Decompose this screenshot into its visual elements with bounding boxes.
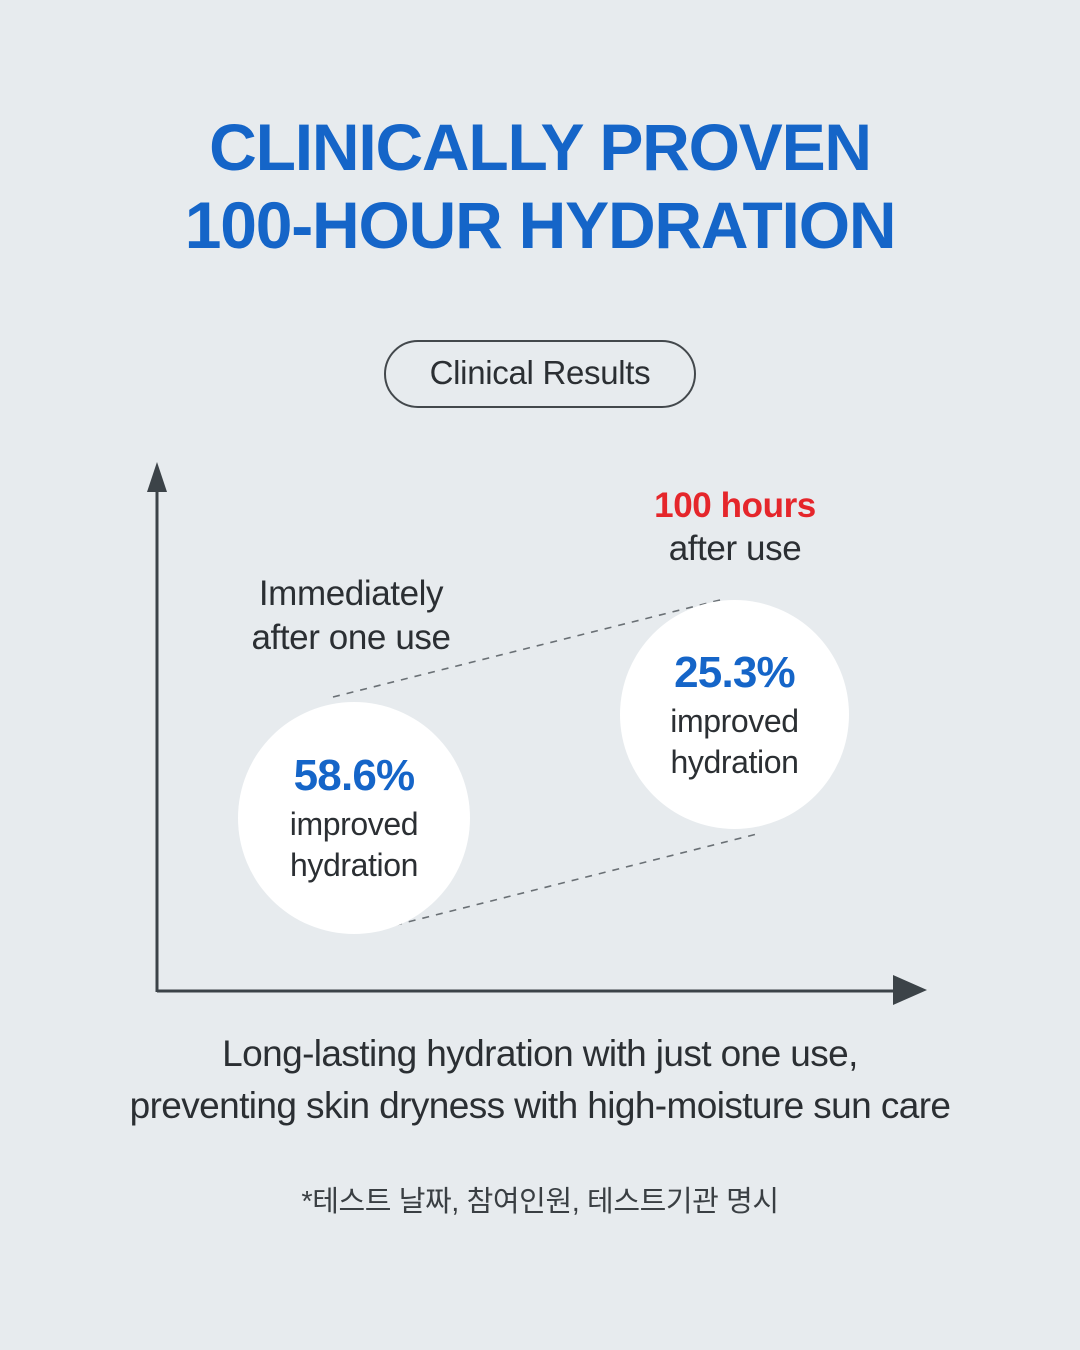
result-value-100-hours: 25.3% (674, 647, 795, 699)
chart-caption-line-1: Long-lasting hydration with just one use… (0, 1028, 1080, 1080)
result-caption-100-hours-line-2: hydration (670, 742, 798, 783)
badge-container: Clinical Results (0, 340, 1080, 408)
chart-label-100-hours: 100 hours after use (575, 484, 895, 570)
chart-label-immediately: Immediately after one use (186, 572, 516, 660)
result-bubble-immediately: 58.6% improved hydration (238, 702, 470, 934)
y-axis-arrowhead-icon (147, 462, 167, 492)
promo-page: CLINICALLY PROVEN 100-HOUR HYDRATION Cli… (0, 0, 1080, 1350)
chart-label-100-hours-subtitle: after use (575, 527, 895, 570)
chart-axes-and-connectors (0, 440, 1080, 1020)
result-caption-immediately: improved hydration (290, 804, 418, 886)
page-title: CLINICALLY PROVEN 100-HOUR HYDRATION (0, 108, 1080, 264)
result-value-immediately: 58.6% (294, 750, 415, 802)
clinical-results-chart: 100 hours after use Immediately after on… (0, 440, 1080, 1020)
chart-caption: Long-lasting hydration with just one use… (0, 1028, 1080, 1132)
result-caption-immediately-line-2: hydration (290, 845, 418, 886)
result-caption-immediately-line-1: improved (290, 804, 418, 845)
chart-label-100-hours-title: 100 hours (575, 484, 895, 527)
page-title-line-2: 100-HOUR HYDRATION (0, 186, 1080, 264)
clinical-results-badge: Clinical Results (384, 340, 697, 408)
chart-label-immediately-line-1: Immediately (186, 572, 516, 616)
chart-caption-line-2: preventing skin dryness with high-moistu… (0, 1080, 1080, 1132)
chart-label-immediately-line-2: after one use (186, 616, 516, 660)
result-bubble-100-hours: 25.3% improved hydration (620, 600, 849, 829)
x-axis-arrowhead-icon (893, 975, 927, 1005)
result-caption-100-hours: improved hydration (670, 701, 798, 783)
result-caption-100-hours-line-1: improved (670, 701, 798, 742)
footnote: *테스트 날짜, 참여인원, 테스트기관 명시 (0, 1183, 1080, 1221)
page-title-line-1: CLINICALLY PROVEN (0, 108, 1080, 186)
